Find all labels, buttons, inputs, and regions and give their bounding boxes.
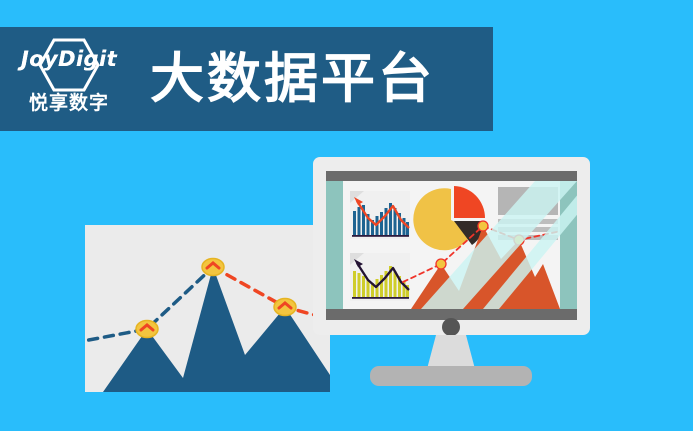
logo-chinese-name: 悦享数字 — [14, 94, 124, 113]
power-button[interactable] — [442, 318, 460, 336]
desktop-monitor — [313, 157, 590, 390]
header-banner: JoyDigit 悦享数字 大数据平台 — [0, 27, 493, 131]
card-axis — [352, 297, 409, 299]
monitor-screen[interactable] — [326, 181, 590, 309]
screen-left-band — [326, 181, 343, 309]
olive-bar-card[interactable] — [350, 253, 410, 301]
monitor-stand-neck — [427, 335, 475, 369]
mountain-silhouette — [85, 267, 330, 392]
monitor-base — [370, 366, 532, 386]
logo-wordmark: JoyDigit — [14, 49, 124, 70]
monitor-top-bezel — [326, 171, 577, 182]
card-axis — [352, 235, 409, 237]
mountain-chart-panel — [85, 225, 330, 392]
blue-bar-card[interactable] — [350, 191, 410, 239]
illustration-canvas: JoyDigit 悦享数字 大数据平台 — [0, 0, 693, 431]
page-title: 大数据平台 — [150, 52, 435, 106]
data-node[interactable] — [478, 221, 488, 231]
logo: JoyDigit 悦享数字 — [14, 36, 124, 122]
data-node[interactable] — [436, 259, 446, 269]
